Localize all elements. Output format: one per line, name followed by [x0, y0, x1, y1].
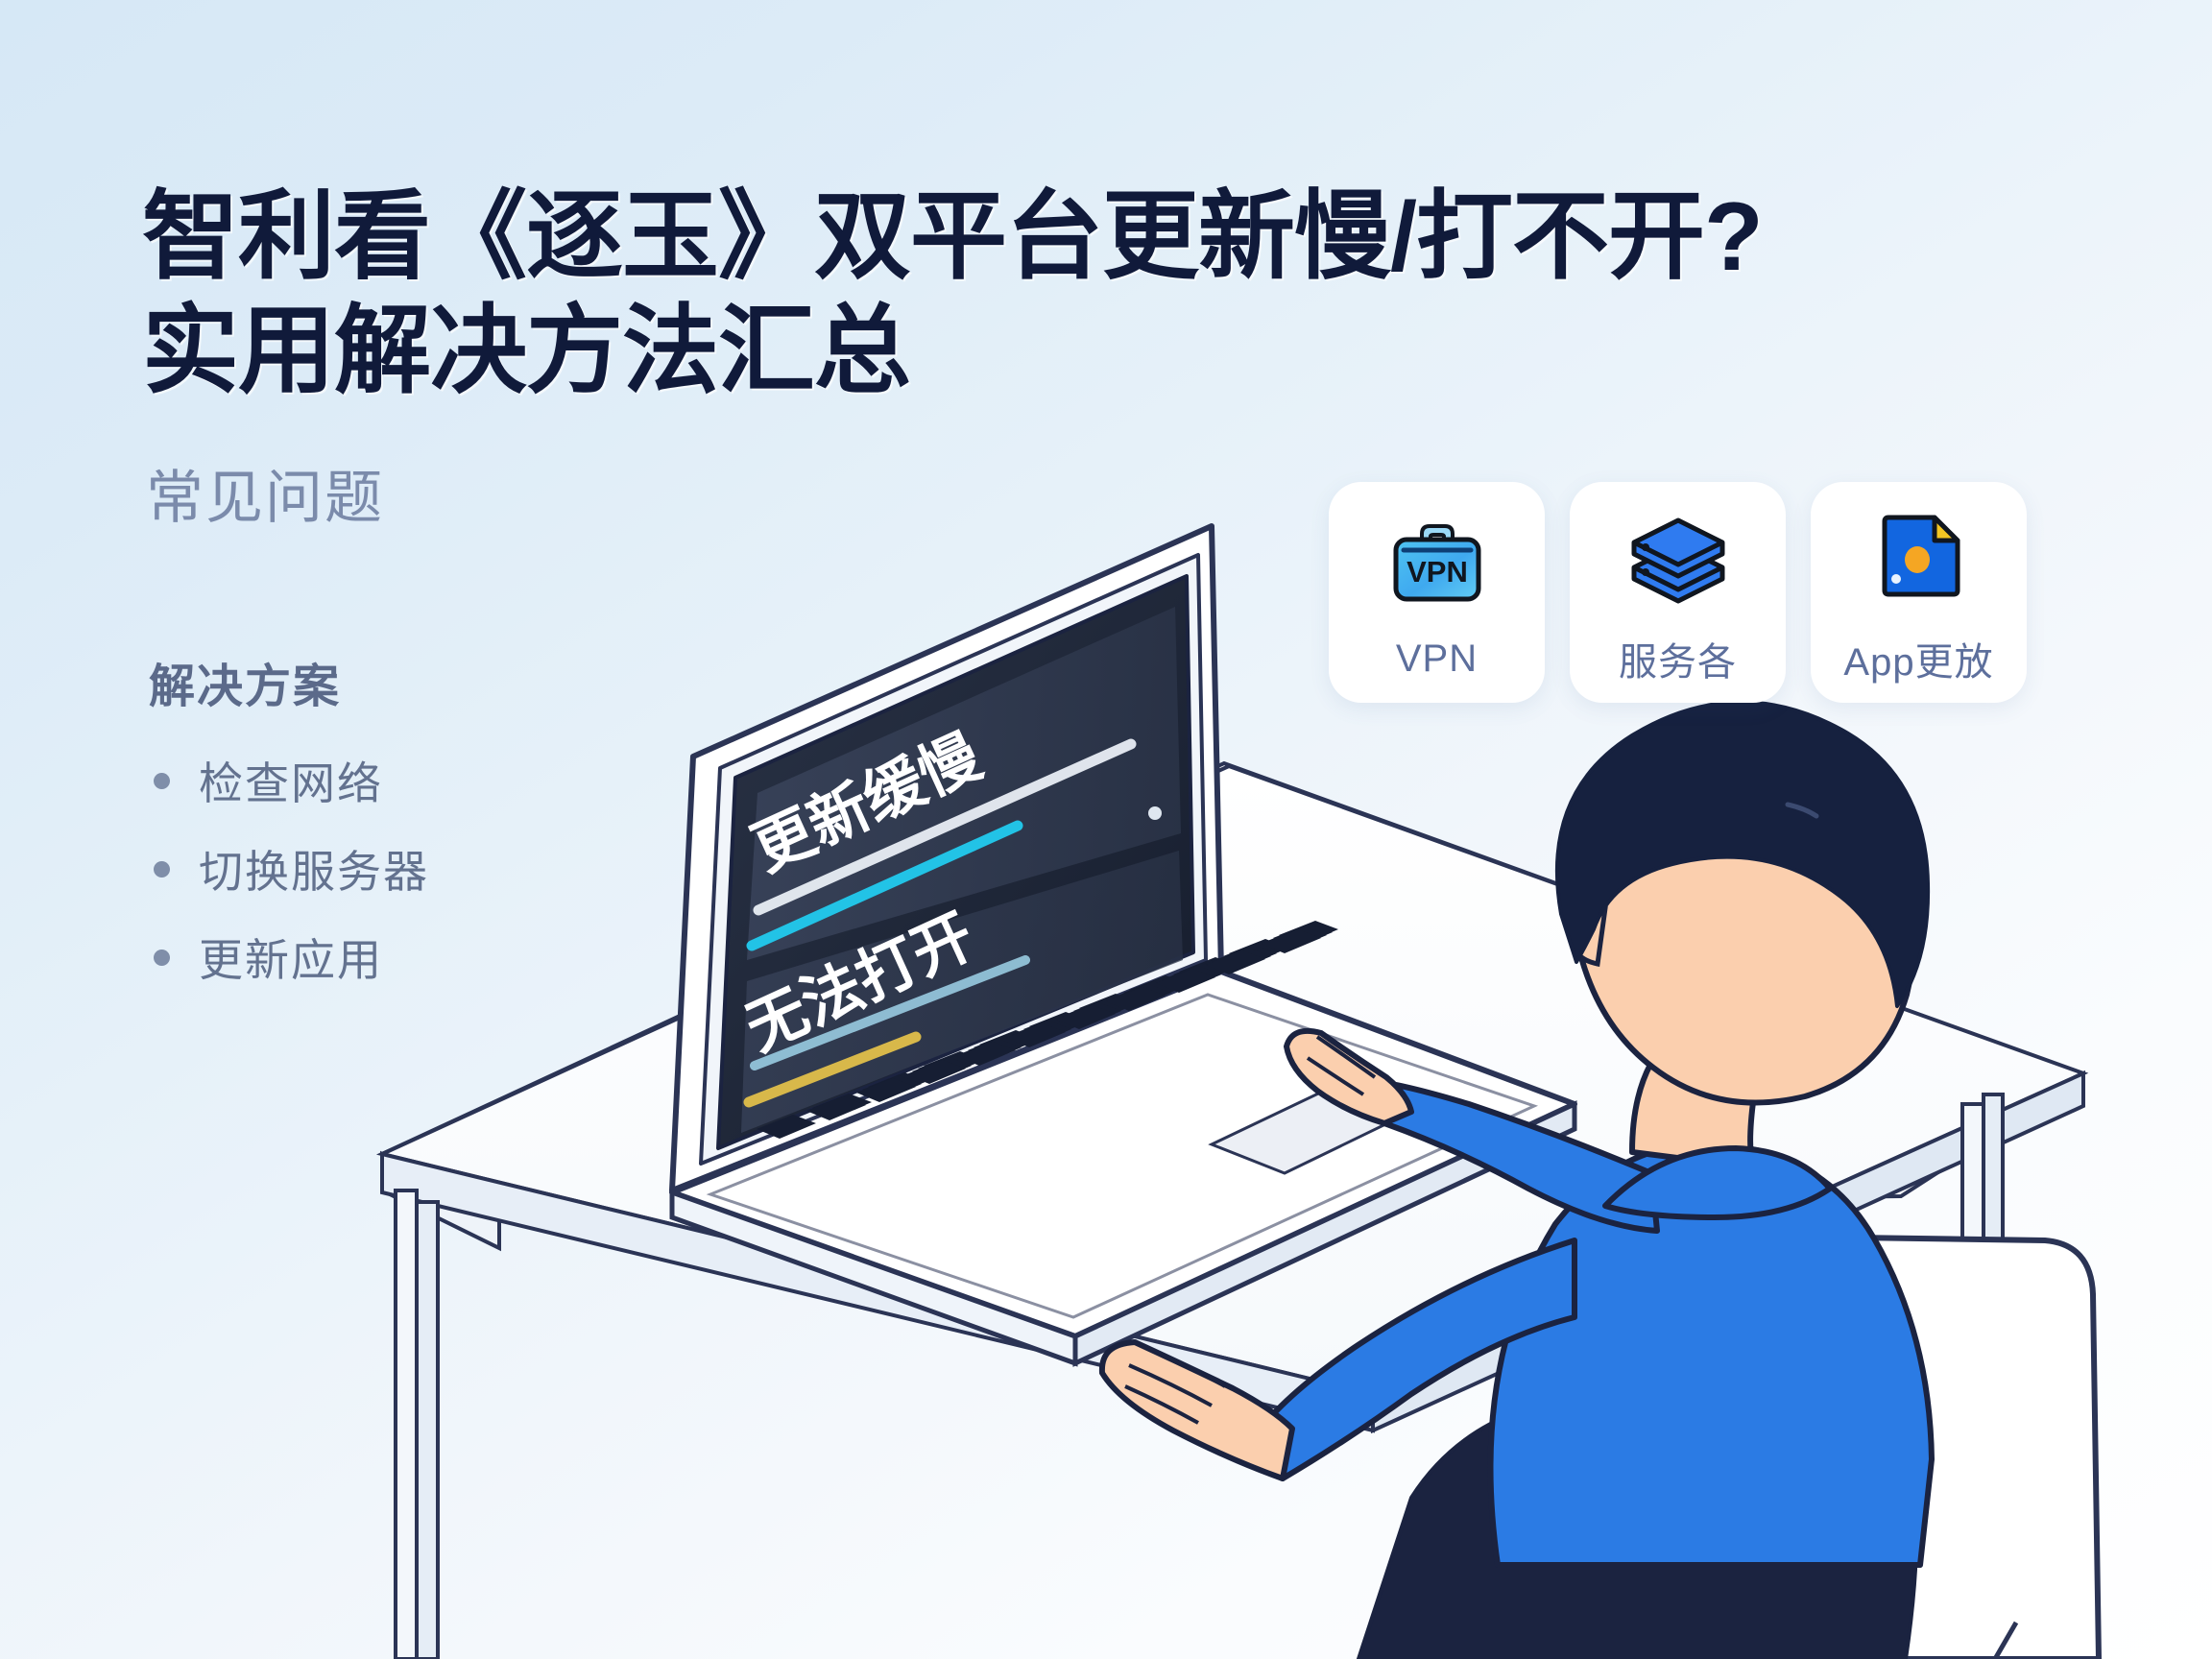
solutions-list: 检查网络 切换服务器 更新应用	[154, 749, 429, 1014]
bullet-icon	[154, 861, 170, 878]
solution-label: 检查网络	[199, 749, 383, 812]
vpn-briefcase-icon: VPN	[1376, 505, 1499, 628]
card-label-vpn: VPN	[1396, 637, 1478, 681]
list-item: 检查网络	[154, 749, 429, 812]
headline-line-2: 实用解决方法汇总	[142, 295, 1505, 409]
card-label-server: 服务各	[1619, 631, 1737, 686]
bullet-icon	[154, 773, 170, 789]
list-item: 切换服务器	[154, 837, 429, 901]
feature-cards: VPN VPN 服务各	[1329, 482, 2027, 703]
card-app-update[interactable]: App更放	[1811, 482, 2027, 703]
solution-label: 更新应用	[199, 926, 383, 989]
list-item: 更新应用	[154, 926, 429, 989]
solutions-heading: 解决方案	[149, 648, 341, 715]
app-document-icon	[1858, 498, 1981, 621]
subtitle: 常见问题	[146, 451, 384, 535]
card-server[interactable]: 服务各	[1570, 482, 1786, 703]
vpn-icon-text: VPN	[1407, 555, 1468, 589]
poster-root: 更新缓慢 无法打开	[0, 0, 2212, 1659]
card-label-app-update: App更放	[1843, 631, 1993, 686]
headline-line-1: 智利看《逐玉》双平台更新慢/打不开?	[142, 180, 1505, 295]
server-stack-icon	[1617, 498, 1740, 621]
page-title: 智利看《逐玉》双平台更新慢/打不开? 实用解决方法汇总	[142, 180, 1505, 409]
bullet-icon	[154, 950, 170, 966]
card-vpn[interactable]: VPN VPN	[1329, 482, 1545, 703]
solution-label: 切换服务器	[199, 837, 429, 901]
